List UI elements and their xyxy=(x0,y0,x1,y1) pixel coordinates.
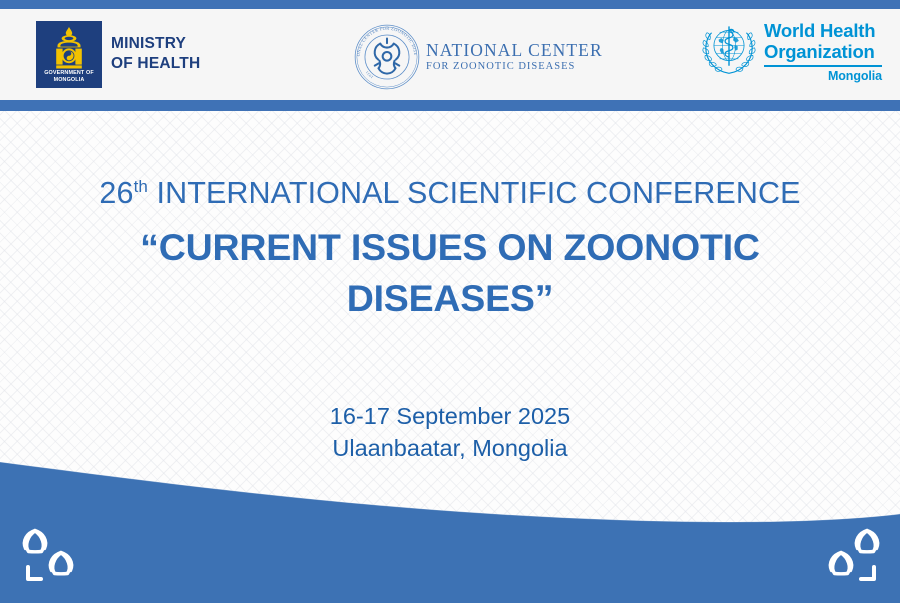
national-center-name-line2: FOR ZOONOTIC DISEASES xyxy=(426,60,603,74)
mongolia-government-emblem: GOVERNMENT OF MONGOLIA xyxy=(36,21,102,88)
top-accent-bar xyxy=(0,0,900,9)
biohazard-seal-icon: NATIONAL CENTER FOR ZOONOTIC DISEASES 19… xyxy=(352,22,422,92)
conference-title-slide: GOVERNMENT OF MONGOLIA MINISTRY OF HEALT… xyxy=(0,0,900,603)
slide-text-block: 26th INTERNATIONAL SCIENTIFIC CONFERENCE… xyxy=(0,111,900,464)
national-center-name: NATIONAL CENTER FOR ZOONOTIC DISEASES xyxy=(426,40,603,74)
wave-main-band xyxy=(0,462,900,603)
conference-heading: 26th INTERNATIONAL SCIENTIFIC CONFERENCE xyxy=(0,174,900,212)
emblem-caption: GOVERNMENT OF MONGOLIA xyxy=(36,70,102,84)
ministry-name-line1: MINISTRY xyxy=(111,34,200,54)
header-accent-bar xyxy=(0,100,900,111)
conference-theme: “CURRENT ISSUES ON ZOONOTIC DISEASES” xyxy=(0,222,900,324)
conference-date: 16-17 September 2025 xyxy=(0,400,900,432)
national-center-name-line1: NATIONAL CENTER xyxy=(426,40,603,60)
ministry-name-line2: OF HEALTH xyxy=(111,54,200,74)
conference-ordinal: th xyxy=(134,177,148,196)
ministry-of-health-name: MINISTRY OF HEALTH xyxy=(111,34,200,74)
soyombo-emblem-icon xyxy=(49,26,89,70)
emblem-caption-line2: MONGOLIA xyxy=(36,77,102,84)
who-country-label: Mongolia xyxy=(764,69,882,83)
conference-theme-line1: “CURRENT ISSUES ON ZOONOTIC xyxy=(60,222,840,273)
who-name-line1: World Health xyxy=(764,21,882,42)
who-divider xyxy=(764,65,882,67)
conference-theme-line2: DISEASES” xyxy=(60,273,840,324)
who-name-line2: Organization xyxy=(764,42,882,63)
who-rod-of-asclepius-icon xyxy=(700,20,758,78)
emblem-caption-line1: GOVERNMENT OF xyxy=(36,70,102,77)
svg-text:1931: 1931 xyxy=(365,70,374,79)
wave-shape xyxy=(0,440,900,603)
mongolian-knot-ornament-left-icon xyxy=(16,523,88,585)
bottom-wave-decoration xyxy=(0,440,900,603)
conference-label: INTERNATIONAL SCIENTIFIC CONFERENCE xyxy=(148,176,801,210)
conference-number: 26 xyxy=(99,176,133,210)
who-name-block: World Health Organization Mongolia xyxy=(764,21,882,83)
who-mongolia-logo: World Health Organization Mongolia xyxy=(700,20,882,83)
national-center-zoonotic-diseases-logo: NATIONAL CENTER FOR ZOONOTIC DISEASES 19… xyxy=(352,22,603,92)
ministry-of-health-logo: GOVERNMENT OF MONGOLIA MINISTRY OF HEALT… xyxy=(36,21,200,88)
mongolian-knot-ornament-right-icon xyxy=(814,523,886,585)
